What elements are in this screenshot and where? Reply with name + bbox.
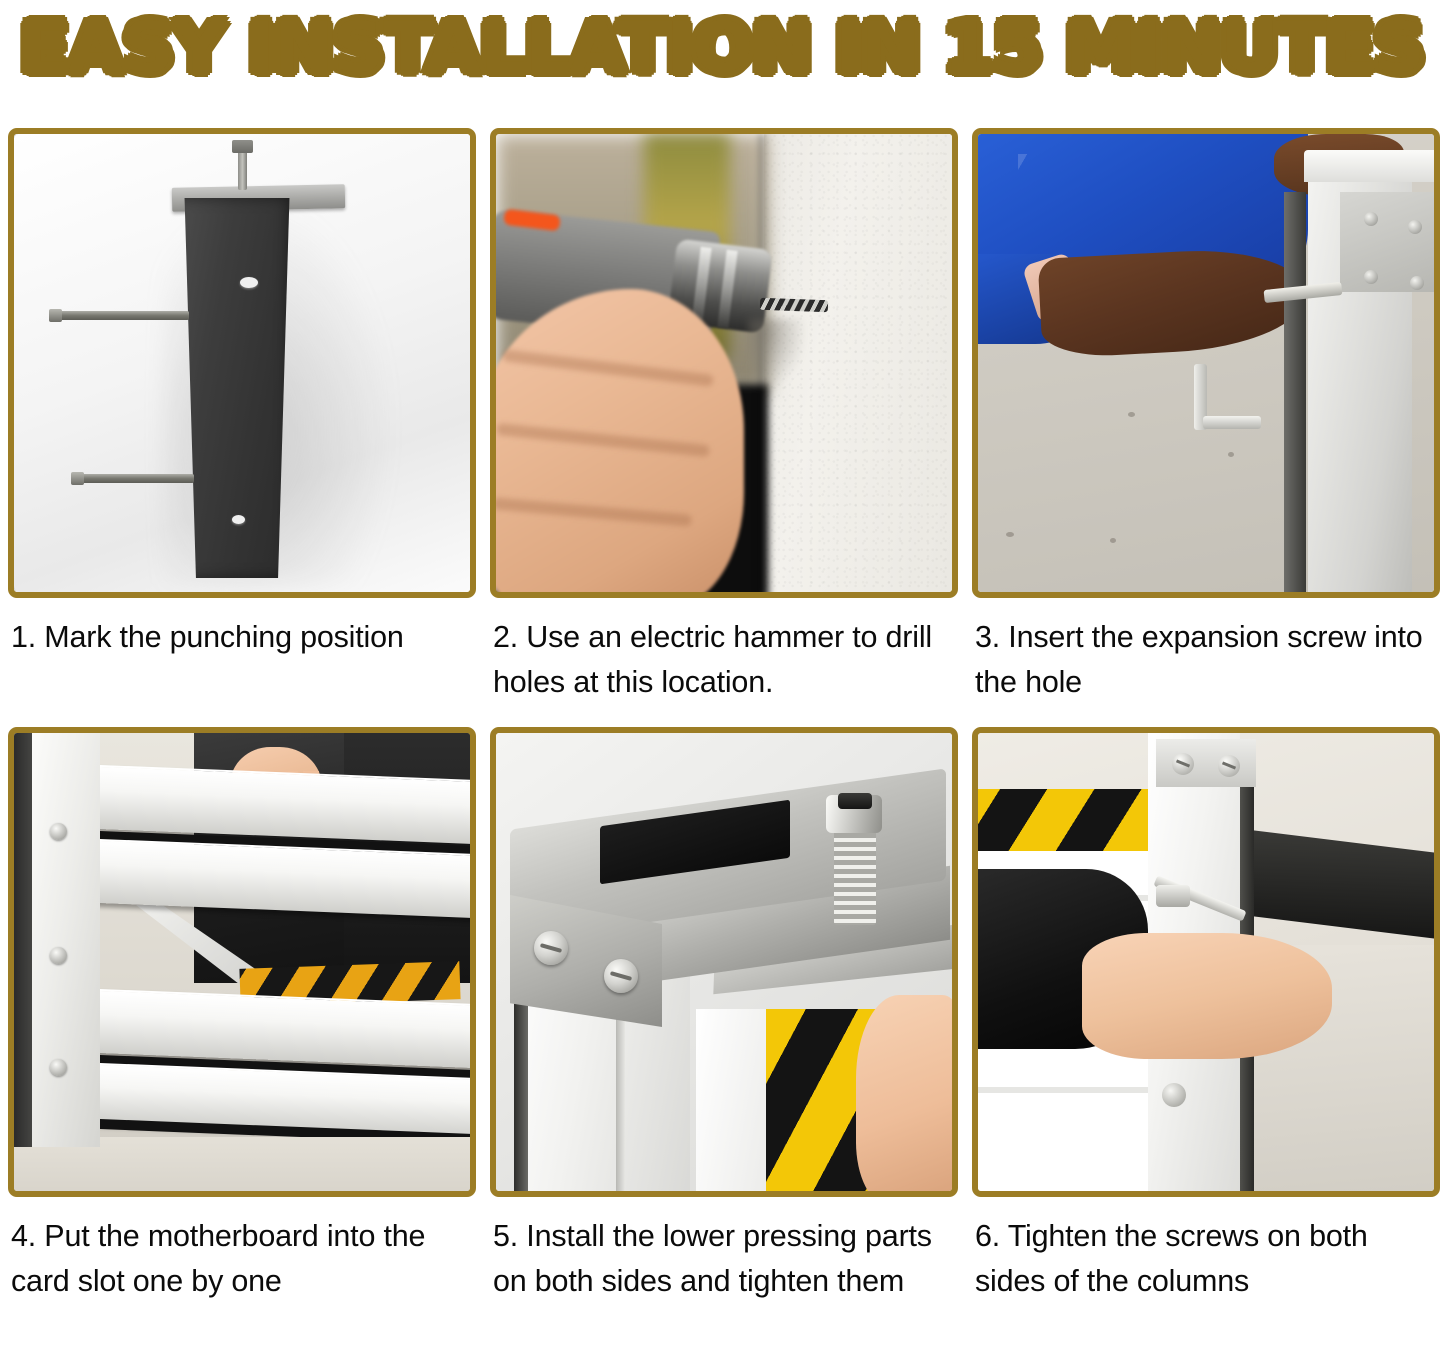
step-card-1: 1. Mark the punching position: [8, 128, 476, 705]
step-1-photo-frame: [8, 128, 476, 598]
drill-dust: [748, 319, 806, 389]
plate-screw-3: [1364, 270, 1378, 284]
allen-key-head: [1156, 885, 1190, 907]
top-screw-left: [1172, 753, 1194, 775]
plate-screw-1: [1364, 212, 1378, 226]
bolt-hex-socket: [838, 793, 872, 809]
top-screw-right: [1218, 755, 1240, 777]
page-title: EASY INSTALLATION IN 15 MINUTES: [20, 12, 1424, 84]
lower-bolt: [76, 474, 194, 483]
step-2-photo-frame: [490, 128, 958, 598]
step-5-caption: 5. Install the lower pressing parts on b…: [490, 1214, 958, 1304]
step-4-photo-frame: [8, 727, 476, 1197]
step-4-caption: 4. Put the motherboard into the card slo…: [8, 1214, 476, 1304]
step-1-photo-mark-punching-position: [14, 134, 470, 592]
hand-turning-allen-key: [1082, 933, 1332, 1059]
step-3-photo-frame: [972, 128, 1440, 598]
allen-key-on-floor: [1194, 364, 1207, 430]
step-card-5: 5. Install the lower pressing parts on b…: [490, 727, 958, 1304]
plate-screw-4: [1410, 276, 1424, 290]
step-card-3: 3. Insert the expansion screw into the h…: [972, 128, 1440, 705]
step-2-photo-drill-holes: [496, 134, 952, 592]
vertical-column-post: [32, 733, 100, 1147]
floor-speck-4: [1110, 538, 1116, 543]
step-2-caption: 2. Use an electric hammer to drill holes…: [490, 615, 958, 705]
floor-speck-1: [1128, 412, 1135, 417]
title-banner: EASY INSTALLATION IN 15 MINUTES: [0, 0, 1445, 96]
steps-grid: 1. Mark the punching position: [8, 128, 1440, 1304]
step-card-2: 2. Use an electric hammer to drill holes…: [490, 128, 958, 705]
upper-mounting-hole: [240, 277, 258, 288]
post-screw-3: [50, 1059, 67, 1076]
step-4-photo-insert-boards: [14, 733, 470, 1191]
installation-guide-page: EASY INSTALLATION IN 15 MINUTES: [0, 0, 1445, 1352]
lower-mounting-hole: [232, 515, 245, 524]
bracket-screw-2: [604, 959, 638, 993]
step-5-photo-frame: [490, 727, 958, 1197]
step-1-caption: 1. Mark the punching position: [8, 615, 476, 660]
step-6-photo-frame: [972, 727, 1440, 1197]
step-3-photo-insert-expansion-screw: [978, 134, 1434, 592]
step-card-6: 6. Tighten the screws on both sides of t…: [972, 727, 1440, 1304]
post-screw-2: [50, 947, 67, 964]
column-top-cap: [1304, 150, 1434, 182]
top-stud-nut: [232, 140, 253, 153]
bolt-threaded-shaft: [834, 829, 876, 925]
supporting-hand: [856, 995, 952, 1191]
drill-bit: [760, 298, 828, 312]
steps-row-top: 1. Mark the punching position: [8, 128, 1440, 705]
step-5-photo-lower-pressing-parts: [496, 733, 952, 1191]
lower-side-screw: [1162, 1083, 1186, 1107]
floor-speck-3: [1006, 532, 1014, 537]
bracket-screw-1: [534, 931, 568, 965]
column-shadow-edge: [1284, 192, 1306, 592]
post-screw-1: [50, 823, 67, 840]
upper-bolt: [54, 311, 189, 320]
hazard-stripe-tape: [978, 789, 1150, 851]
steps-row-bottom: 4. Put the motherboard into the card slo…: [8, 727, 1440, 1304]
column-top-bracket: [1156, 739, 1256, 787]
step-6-caption: 6. Tighten the screws on both sides of t…: [972, 1214, 1440, 1304]
plate-screw-2: [1408, 220, 1422, 234]
floor-speck-2: [1228, 452, 1234, 457]
step-card-4: 4. Put the motherboard into the card slo…: [8, 727, 476, 1304]
step-6-photo-tighten-screws: [978, 733, 1434, 1191]
white-board-edge: [696, 1009, 766, 1191]
step-3-caption: 3. Insert the expansion screw into the h…: [972, 615, 1440, 705]
